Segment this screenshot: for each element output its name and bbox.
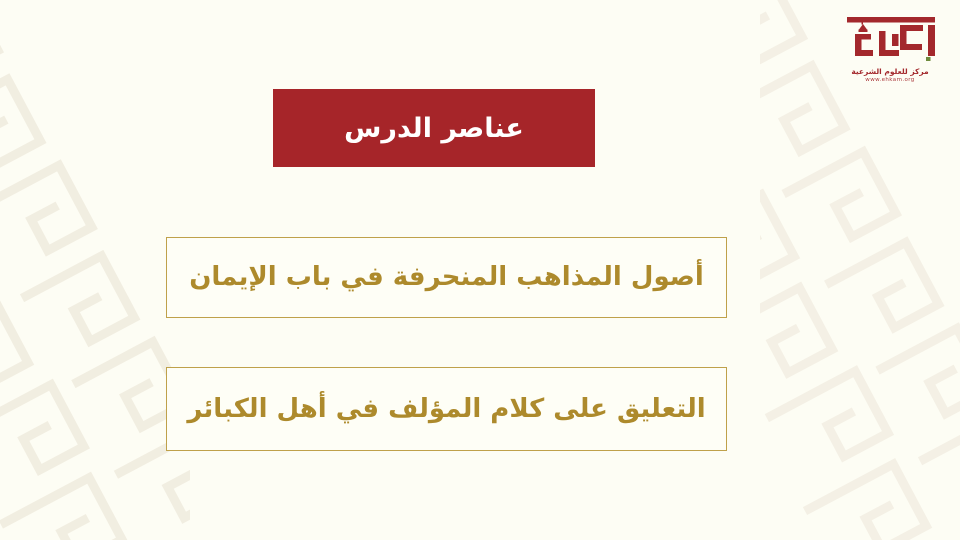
title-banner-text: عناصر الدرس — [344, 115, 524, 142]
title-banner: عناصر الدرس — [273, 89, 595, 167]
slide-canvas: مركز للعلوم الشرعية www.ehkam.org عناصر … — [0, 0, 960, 540]
ehkam-logo-icon — [840, 14, 940, 64]
logo-subtitle: مركز للعلوم الشرعية — [834, 67, 946, 76]
lesson-element-text-1: أصول المذاهب المنحرفة في باب الإيمان — [171, 261, 722, 294]
lesson-element-box-2: التعليق على كلام المؤلف في أهل الكبائر — [166, 367, 727, 451]
logo-url: www.ehkam.org — [834, 77, 946, 84]
kufic-pattern-left — [0, 0, 190, 540]
ehkam-logo: مركز للعلوم الشرعية www.ehkam.org — [834, 14, 946, 84]
lesson-element-text-2: التعليق على كلام المؤلف في أهل الكبائر — [169, 393, 723, 426]
lesson-element-box-1: أصول المذاهب المنحرفة في باب الإيمان — [166, 237, 727, 318]
